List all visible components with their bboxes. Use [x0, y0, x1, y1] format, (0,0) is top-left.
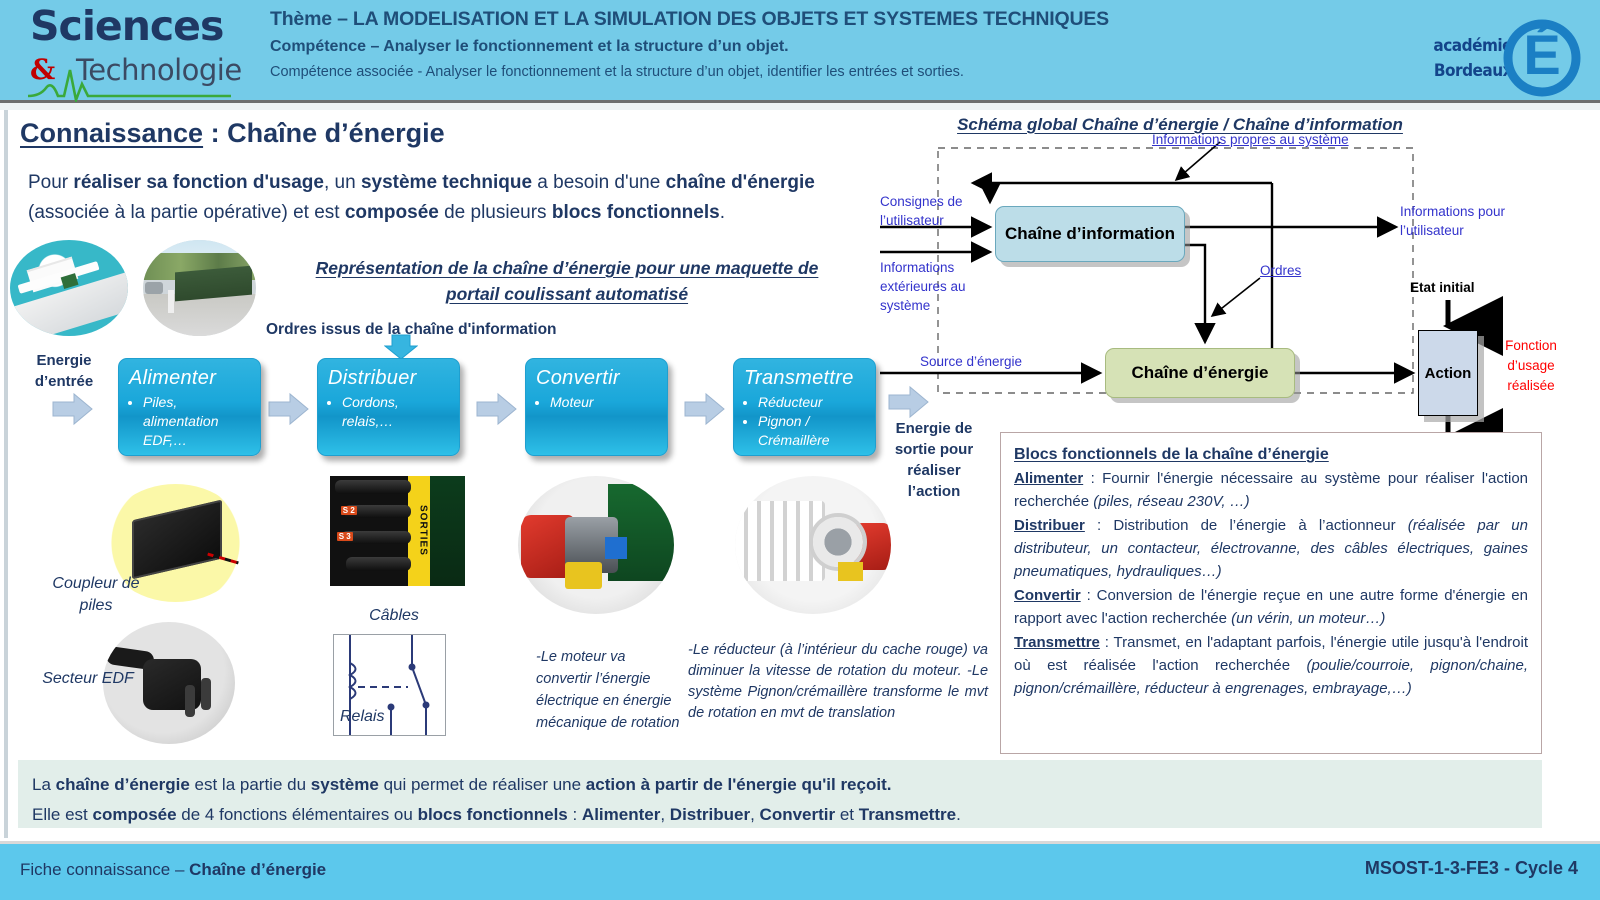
header-theme: Thème – LA MODELISATION ET LA SIMULATION…: [270, 6, 1390, 32]
page-title-keyword: Connaissance: [20, 118, 203, 148]
page-header: Sciences & Technologie Thème – LA MODELI…: [0, 0, 1600, 103]
function-block-title: Convertir: [536, 366, 659, 390]
function-block-title: Alimenter: [129, 366, 252, 390]
bloc-text: : Distribution de l’énergie à l’actionne…: [1085, 517, 1408, 534]
bloc-term: Alimenter: [1014, 470, 1083, 487]
function-block-distribuer[interactable]: Distribuer Cordons, relais,…: [317, 358, 460, 456]
left-vertical-rule: [4, 110, 8, 838]
schema-label-informations-utilisateur: Informations pour l’utilisateur: [1400, 202, 1520, 240]
bloc-term: Transmettre: [1014, 634, 1100, 651]
academie-bordeaux-logo: académie Bordeaux É: [1415, 6, 1590, 98]
header-text-group: Thème – LA MODELISATION ET LA SIMULATION…: [270, 6, 1390, 83]
flow-arrow-1: [268, 392, 310, 426]
photo-portail-reel: [143, 240, 256, 336]
function-block-list: Réducteur Pignon / Crémaillère: [744, 393, 867, 450]
page-footer: Fiche connaissance – Chaîne d’énergie MS…: [0, 841, 1600, 900]
footer-reference-code: MSOST-1-3-FE3 - Cycle 4: [1365, 858, 1578, 879]
fiche-connaissance-page: Sciences & Technologie Thème – LA MODELI…: [0, 0, 1600, 900]
logo-sciences-text: Sciences: [30, 4, 238, 48]
function-block-item: Cordons, relais,…: [342, 393, 451, 431]
schema-label-fonction-usage: Fonction d’usage réalisée: [1486, 336, 1576, 396]
page-title: Connaissance : Chaîne d’énergie: [20, 118, 445, 149]
function-block-title: Distribuer: [328, 366, 451, 390]
header-competence-associee: Compétence associée - Analyser le foncti…: [270, 61, 1390, 83]
bloc-examples: (piles, réseau 230V, …): [1093, 493, 1249, 510]
bloc-entry-transmettre: Transmettre : Transmet, en l'adaptant pa…: [1014, 631, 1528, 700]
bloc-entry-convertir: Convertir : Conversion de l'énergie reçu…: [1014, 584, 1528, 630]
schema-global-diagram: Chaîne d’information Chaîne d’énergie Ac…: [880, 130, 1600, 440]
photo-pignon-cremaillere: [735, 476, 891, 614]
description-moteur: -Le moteur va convertir l’énergie électr…: [536, 646, 681, 734]
function-block-list: Cordons, relais,…: [328, 393, 451, 431]
cable-tag-s2: S 2: [341, 506, 357, 515]
bloc-entry-alimenter: Alimenter : Fournir l'énergie nécessaire…: [1014, 467, 1528, 513]
bloc-entry-distribuer: Distribuer : Distribution de l’énergie à…: [1014, 514, 1528, 583]
schema-box-action: Action: [1418, 330, 1478, 416]
header-competence: Compétence – Analyser le fonctionnement …: [270, 35, 1390, 59]
footer-left-text: Fiche connaissance – Chaîne d’énergie: [20, 860, 326, 880]
label-energie-entree: Energie d’entrée: [14, 350, 114, 392]
function-block-item: Pignon / Crémaillère: [758, 412, 867, 450]
label-cables: Câbles: [334, 607, 454, 625]
description-reducteur-pignon: -Le réducteur (à l’intérieur du cache ro…: [688, 640, 988, 724]
schema-label-consignes: Consignes de l’utilisateur: [880, 192, 972, 230]
representation-title: Représentation de la chaîne d’énergie po…: [287, 255, 847, 307]
function-block-list: Piles, alimentation EDF,…: [129, 393, 252, 450]
flow-arrow-0: [52, 392, 94, 426]
svg-text:É: É: [1523, 23, 1560, 86]
function-block-list: Moteur: [536, 393, 659, 412]
down-arrow-icon: [384, 334, 418, 360]
schema-label-source-energie: Source d’énergie: [920, 352, 1022, 371]
blocs-fonctionnels-title: Blocs fonctionnels de la chaîne d’énergi…: [1014, 443, 1528, 466]
ecg-wave-icon: [26, 66, 236, 102]
flow-arrow-3: [684, 392, 726, 426]
schema-box-chaine-information: Chaîne d’information: [995, 206, 1185, 262]
function-block-item: Moteur: [550, 393, 659, 412]
schema-box-chaine-energie: Chaîne d’énergie: [1105, 348, 1295, 398]
header-underband: [0, 103, 1600, 110]
academie-e-circle-icon: É: [1480, 6, 1590, 98]
description-reducteur: -Le réducteur (à l’intérieur du cache ro…: [688, 642, 988, 679]
photo-moteur: [518, 476, 674, 614]
summary-line-2: Elle est composée de 4 fonctions élément…: [32, 800, 1528, 830]
photo-maquette-portail: [10, 240, 128, 336]
function-block-transmettre[interactable]: Transmettre Réducteur Pignon / Crémaillè…: [733, 358, 876, 456]
schema-label-ordres: Ordres: [1260, 261, 1301, 280]
photo-cables: SORTIES S 2 S 3: [330, 476, 465, 586]
flow-arrow-2: [476, 392, 518, 426]
blocs-fonctionnels-box: Blocs fonctionnels de la chaîne d’énergi…: [1000, 432, 1542, 754]
page-title-rest: : Chaîne d’énergie: [203, 118, 445, 148]
bloc-term: Convertir: [1014, 587, 1081, 604]
bloc-examples: (un vérin, un moteur…): [1231, 610, 1385, 627]
schema-label-informations-exterieures: Informations extérieures au système: [880, 258, 972, 315]
label-relais: Relais: [340, 708, 384, 726]
bloc-text: : Fournir l'énergie nécessaire au systèm…: [1014, 470, 1528, 510]
sciences-technologie-logo: Sciences & Technologie: [18, 4, 238, 100]
schema-label-etat-initial: Etat initial: [1410, 278, 1475, 297]
label-coupleur-piles: Coupleur de piles: [48, 573, 144, 617]
intro-paragraph: Pour réaliser sa fonction d'usage, un sy…: [28, 168, 873, 228]
cables-sorties-text: SORTIES: [410, 505, 429, 556]
function-block-alimenter[interactable]: Alimenter Piles, alimentation EDF,…: [118, 358, 261, 456]
schema-label-informations-propres: Informations propres au système: [1152, 130, 1382, 149]
label-secteur-edf: Secteur EDF: [42, 668, 134, 690]
function-block-convertir[interactable]: Convertir Moteur: [525, 358, 668, 456]
bloc-term: Distribuer: [1014, 517, 1085, 534]
summary-box: La chaîne d’énergie est la partie du sys…: [18, 760, 1542, 828]
function-block-item: Piles, alimentation EDF,…: [143, 393, 252, 450]
cable-tag-s3: S 3: [337, 532, 353, 541]
summary-line-1: La chaîne d’énergie est la partie du sys…: [32, 770, 1528, 800]
function-block-title: Transmettre: [744, 366, 867, 390]
function-block-item: Réducteur: [758, 393, 867, 412]
